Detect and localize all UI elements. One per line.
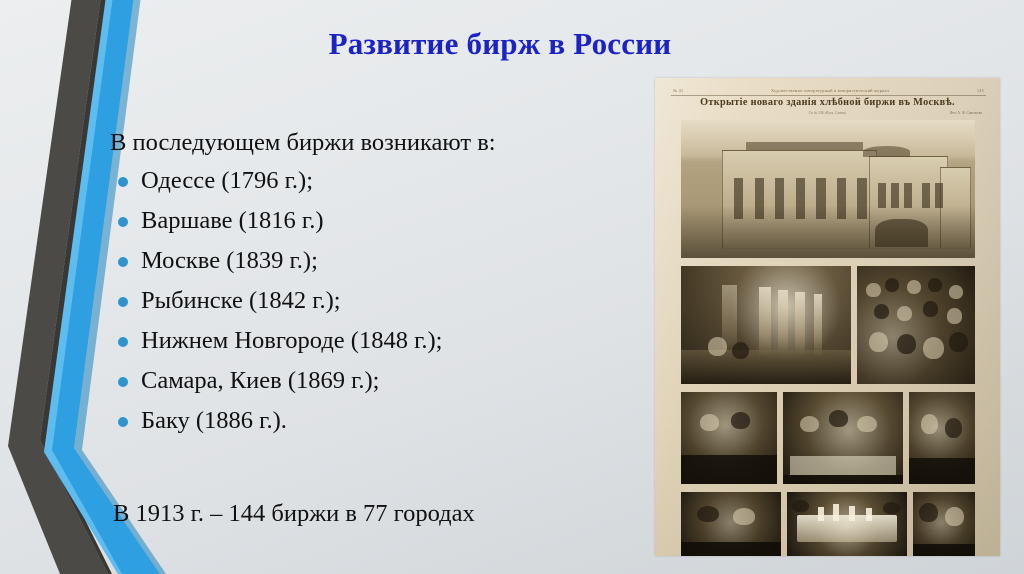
- committee-desk-photo-1: [681, 392, 777, 484]
- list-item: Самара, Киев (1869 г.);: [110, 369, 640, 394]
- exchange-building-photo: [681, 120, 975, 258]
- newspaper-clipping-image: № 41 Художественно-литературный и юморис…: [655, 78, 1000, 556]
- list-item-label: Одессе (1796 г.);: [141, 167, 313, 194]
- bullet-dot-icon: [118, 297, 128, 307]
- banquet-photo-2: [787, 492, 907, 556]
- footer-text: В 1913 г. – 144 биржи в 77 городах: [113, 500, 475, 528]
- committee-desk-photo-3: [909, 392, 975, 484]
- list-item: Москве (1839 г.);: [110, 249, 640, 274]
- list-item-label: Рыбинске (1842 г.);: [141, 287, 341, 314]
- list-item: Нижнем Новгороде (1848 г.);: [110, 329, 640, 354]
- page-title: Развитие бирж в России: [150, 26, 850, 62]
- intro-text: В последующем биржи возникают в:: [110, 131, 640, 156]
- bullet-dot-icon: [118, 377, 128, 387]
- bullet-dot-icon: [118, 257, 128, 267]
- city-bullet-list: Одессе (1796 г.); Варшаве (1816 г.) Моск…: [110, 169, 640, 434]
- crowd-photo: [857, 266, 975, 384]
- banquet-photo-1: [681, 492, 781, 556]
- bullet-dot-icon: [118, 417, 128, 427]
- list-item: Варшаве (1816 г.): [110, 209, 640, 234]
- newspaper-headline: Открытіе новаго зданія хлѣбной биржи въ …: [655, 97, 1000, 108]
- masthead-center-text: Художественно-литературный и юмористичес…: [771, 88, 889, 93]
- list-item-label: Самара, Киев (1869 г.);: [141, 367, 379, 394]
- masthead-issue-left: № 41: [673, 88, 683, 93]
- committee-desk-photo-2: [783, 392, 903, 484]
- chevron-gray-band: [8, 0, 108, 574]
- chevron-gray-shadow: [40, 0, 112, 574]
- bullet-dot-icon: [118, 177, 128, 187]
- list-item: Баку (1886 г.).: [110, 409, 640, 434]
- presentation-slide: Развитие бирж в России В последующем бир…: [0, 0, 1024, 574]
- newspaper-photo-credit: Фот. А. Ф. Савельева: [950, 111, 982, 115]
- list-item-label: Баку (1886 г.).: [141, 407, 287, 434]
- newspaper-masthead-bar: № 41 Художественно-литературный и юморис…: [673, 86, 984, 95]
- list-item: Рыбинске (1842 г.);: [110, 289, 640, 314]
- content-block: В последующем биржи возникают в: Одессе …: [110, 131, 640, 449]
- masthead-rule: [671, 95, 986, 96]
- masthead-page-number: 125: [977, 88, 984, 93]
- list-item-label: Нижнем Новгороде (1848 г.);: [141, 327, 442, 354]
- list-item-label: Москве (1839 г.);: [141, 247, 318, 274]
- bullet-dot-icon: [118, 217, 128, 227]
- bullet-dot-icon: [118, 337, 128, 347]
- interior-hall-photo: [681, 266, 851, 384]
- banquet-photo-3: [913, 492, 975, 556]
- newspaper-subline: Съ № 136 «Русь. Слово»: [655, 111, 1000, 115]
- list-item: Одессе (1796 г.);: [110, 169, 640, 194]
- list-item-label: Варшаве (1816 г.): [141, 207, 323, 234]
